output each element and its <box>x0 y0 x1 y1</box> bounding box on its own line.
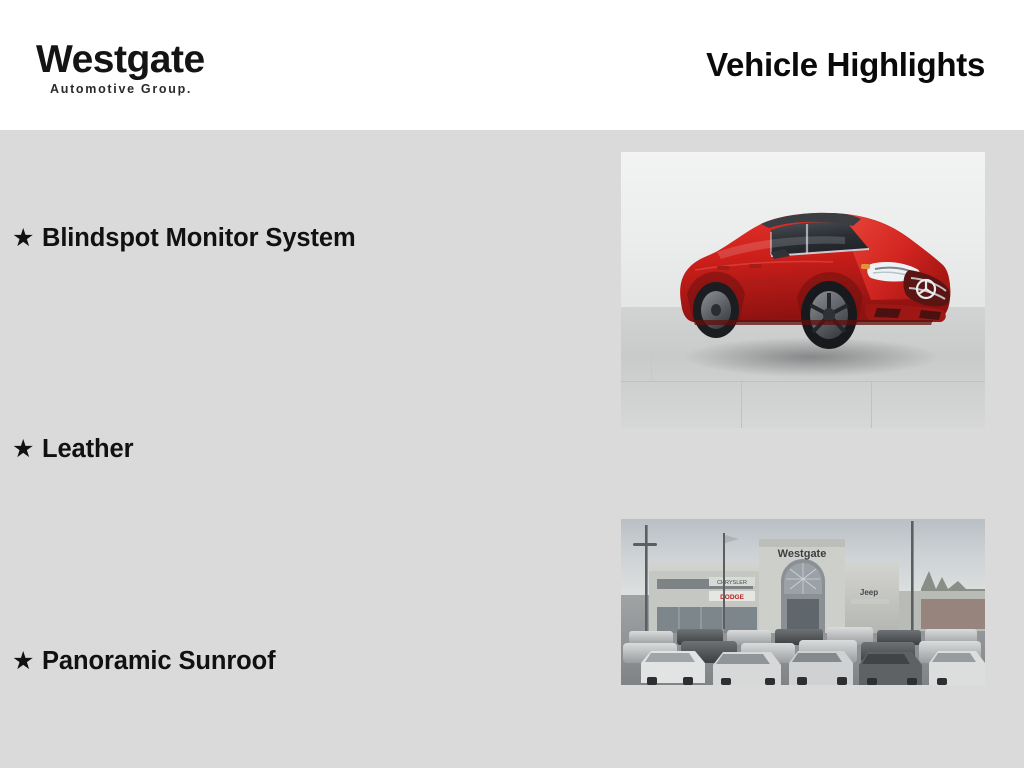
vehicle-photo <box>621 152 985 428</box>
list-item: ★ Leather <box>12 434 133 464</box>
list-item: ★ Panoramic Sunroof <box>12 646 276 676</box>
star-bullet-icon: ★ <box>12 646 42 676</box>
vehicle-highlights-page: Westgate Automotive Group. Vehicle Highl… <box>0 0 1024 768</box>
dealership-photo: Westgate CHRYSLER DODGE Jeep <box>621 519 985 685</box>
building-sign-text: Westgate <box>778 548 827 560</box>
list-item: ★ Blindspot Monitor System <box>12 223 356 253</box>
chrysler-sign-text: CHRYSLER <box>717 580 747 586</box>
page-body: ★ Blindspot Monitor System ★ Leather ★ P… <box>0 130 1024 768</box>
logo-tagline-text: Automotive Group. <box>50 82 256 97</box>
feature-label: Panoramic Sunroof <box>42 646 276 676</box>
red-sedan-illustration <box>621 152 985 428</box>
dealership-illustration: Westgate CHRYSLER DODGE Jeep <box>621 519 985 685</box>
star-bullet-icon: ★ <box>12 223 42 253</box>
feature-label: Blindspot Monitor System <box>42 223 356 253</box>
feature-label: Leather <box>42 434 133 464</box>
dealer-logo: Westgate Automotive Group. <box>36 40 256 97</box>
jeep-sign-text: Jeep <box>860 588 878 597</box>
page-title: Vehicle Highlights <box>706 46 985 84</box>
page-header: Westgate Automotive Group. Vehicle Highl… <box>0 0 1024 130</box>
star-bullet-icon: ★ <box>12 434 42 464</box>
logo-brand-text: Westgate <box>36 40 256 80</box>
